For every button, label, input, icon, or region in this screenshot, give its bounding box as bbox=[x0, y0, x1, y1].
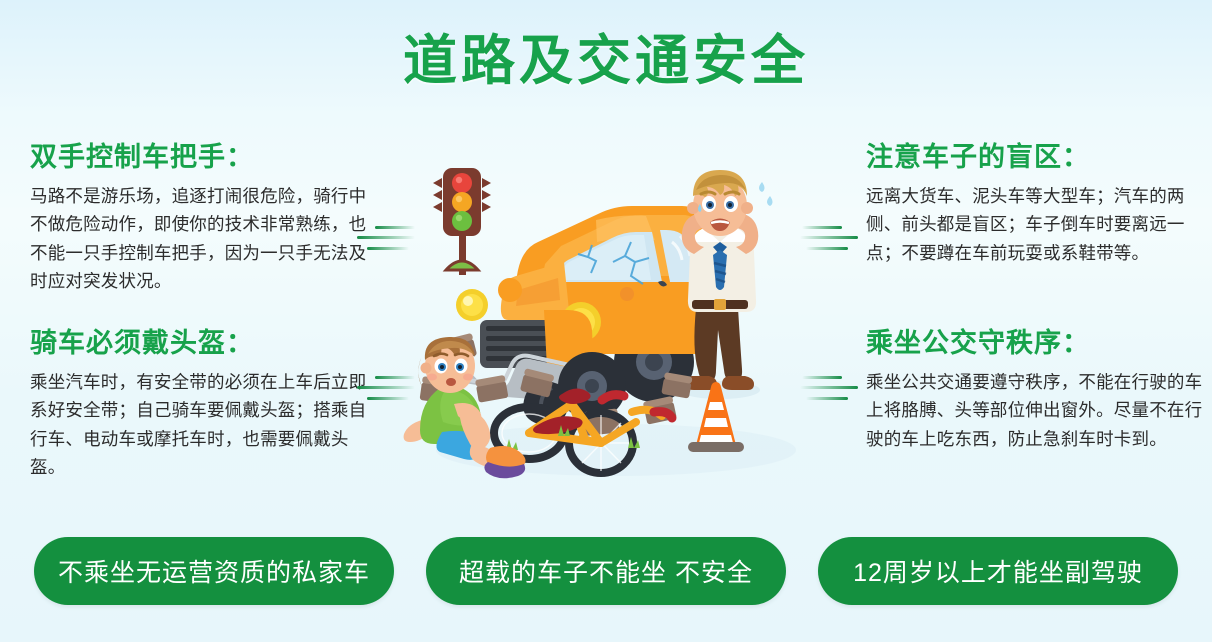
block-body: 乘坐公共交通要遵守秩序，不能在行驶的车上将胳膊、头等部位伸出窗外。尽量不在行驶的… bbox=[866, 368, 1212, 453]
accident-illustration bbox=[396, 150, 816, 500]
poster-root: 道路及交通安全 双手控制车把手： 马路不是游乐场，追逐打闹很危险，骑行中不做危险… bbox=[0, 0, 1212, 642]
block-heading: 乘坐公交守秩序： bbox=[866, 328, 1212, 359]
page-title: 道路及交通安全 bbox=[0, 16, 1212, 95]
text-block-left-1: 双手控制车把手： 马路不是游乐场，追逐打闹很危险，骑行中不做危险动作，即使你的技… bbox=[30, 142, 382, 295]
block-heading: 注意车子的盲区： bbox=[866, 142, 1212, 173]
traffic-light-icon bbox=[433, 168, 491, 275]
pill-button-1[interactable]: 不乘坐无运营资质的私家车 bbox=[34, 537, 394, 605]
block-body: 远离大货车、泥头车等大型车；汽车的两侧、前头都是盲区；车子倒车时要离远一点；不要… bbox=[866, 182, 1212, 267]
block-body: 乘坐汽车时，有安全带的必须在上车后立即系好安全带；自己骑车要佩戴头盔；搭乘自行车… bbox=[30, 368, 382, 481]
pill-button-3[interactable]: 12周岁以上才能坐副驾驶 bbox=[818, 537, 1178, 605]
pill-button-2[interactable]: 超载的车子不能坐 不安全 bbox=[426, 537, 786, 605]
text-block-right-1: 注意车子的盲区： 远离大货车、泥头车等大型车；汽车的两侧、前头都是盲区；车子倒车… bbox=[866, 142, 1212, 267]
text-block-right-2: 乘坐公交守秩序： 乘坐公共交通要遵守秩序，不能在行驶的车上将胳膊、头等部位伸出窗… bbox=[866, 328, 1212, 453]
pill-button-row: 不乘坐无运营资质的私家车 超载的车子不能坐 不安全 12周岁以上才能坐副驾驶 bbox=[0, 537, 1212, 609]
block-body: 马路不是游乐场，追逐打闹很危险，骑行中不做危险动作，即使你的技术非常熟练，也不能… bbox=[30, 182, 382, 295]
text-block-left-2: 骑车必须戴头盔： 乘坐汽车时，有安全带的必须在上车后立即系好安全带；自己骑车要佩… bbox=[30, 328, 382, 481]
block-heading: 双手控制车把手： bbox=[30, 142, 382, 173]
block-heading: 骑车必须戴头盔： bbox=[30, 328, 382, 359]
